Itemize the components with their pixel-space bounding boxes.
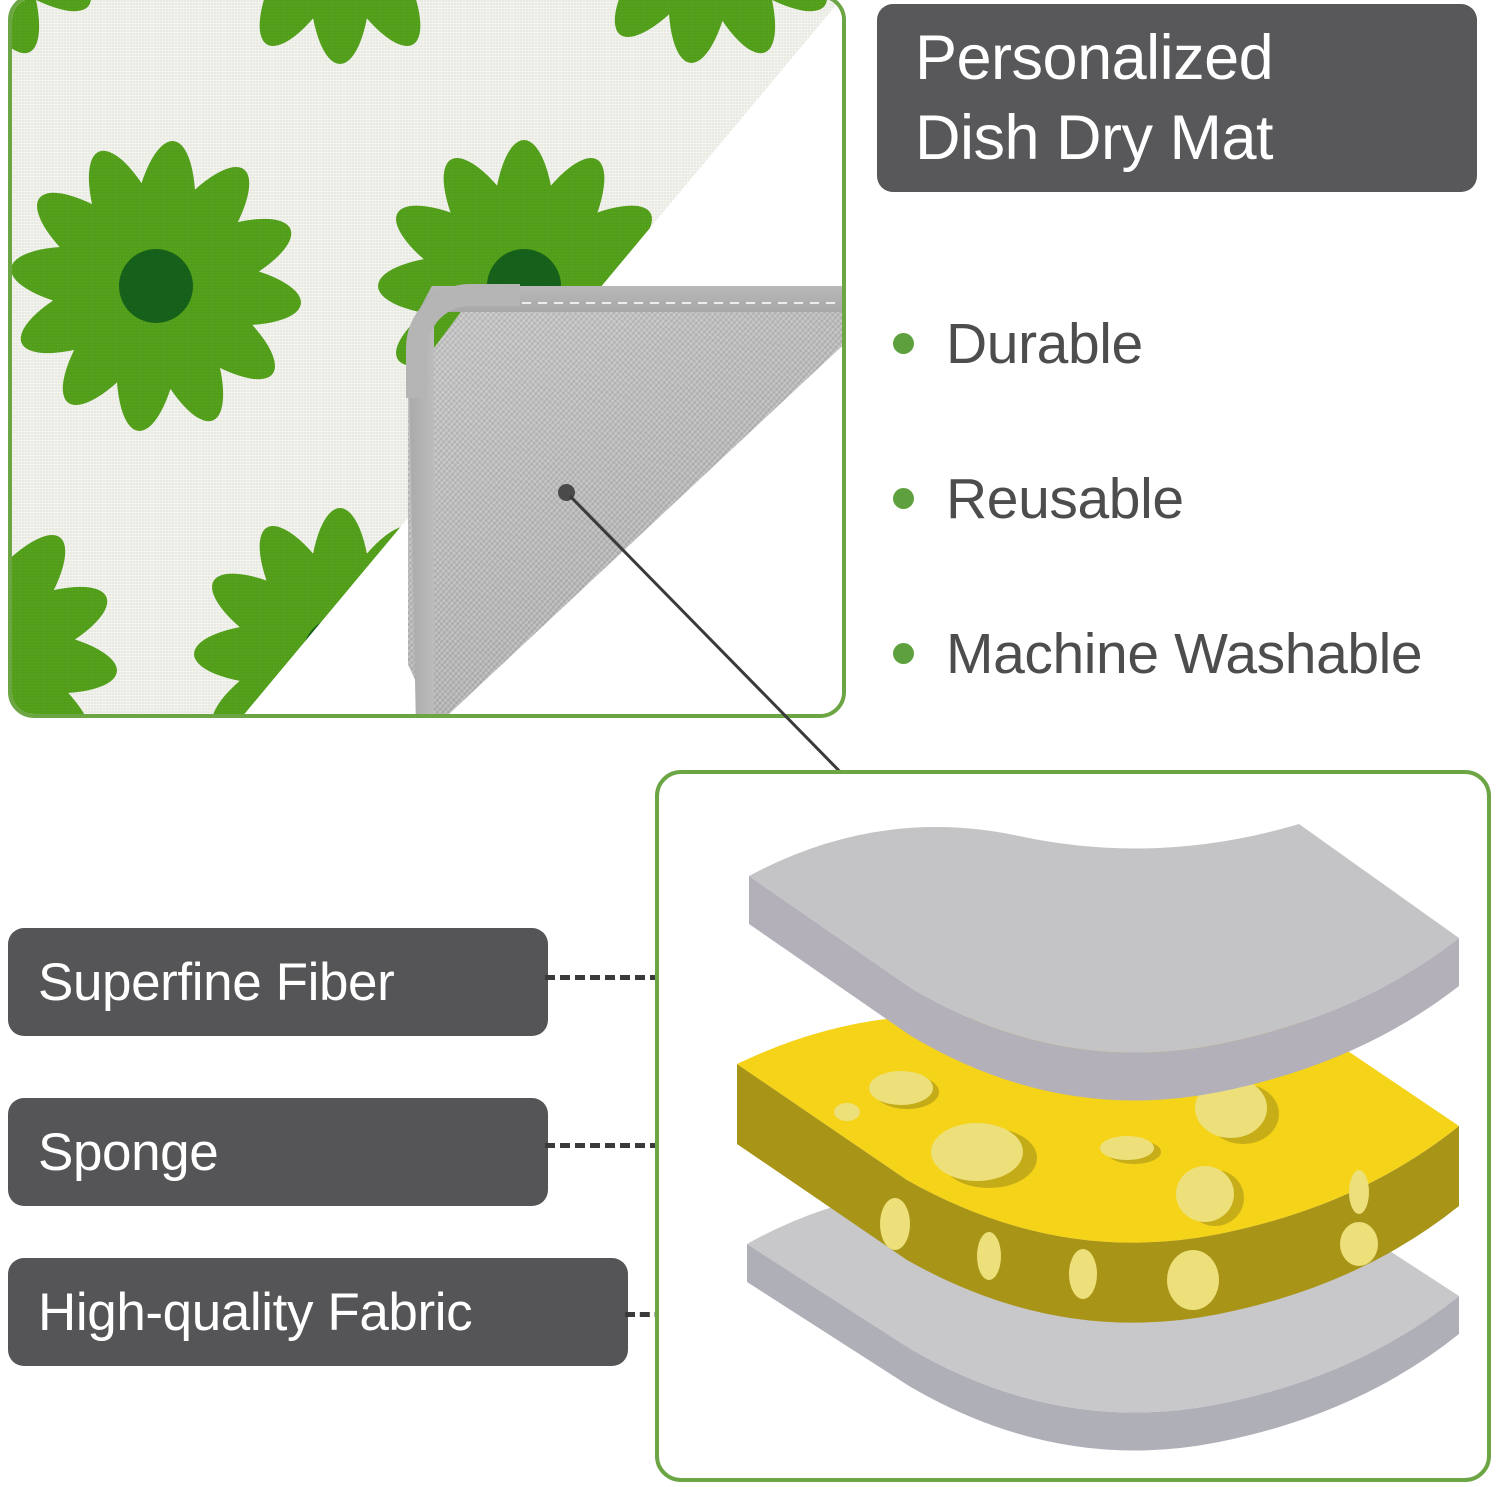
layer-label-superfine-fiber: Superfine Fiber (8, 928, 548, 1036)
daisy-core (8, 617, 9, 691)
exploded-layers-illustration (659, 774, 1487, 1478)
bullet-dot-icon (893, 333, 914, 354)
feature-list: Durable Reusable Machine Washable (893, 266, 1493, 731)
feature-item-machine-washable: Machine Washable (893, 576, 1493, 731)
bullet-dot-icon (893, 643, 914, 664)
product-title-card: Personalized Dish Dry Mat (877, 4, 1477, 192)
layer-structure-panel (655, 770, 1491, 1482)
folded-corner-grey-backing (408, 286, 846, 718)
feature-item-durable: Durable (893, 266, 1493, 421)
feature-item-reusable: Reusable (893, 421, 1493, 576)
layer-label-text: Sponge (38, 1122, 218, 1183)
title-line-2: Dish Dry Mat (915, 98, 1477, 178)
layer-label-high-quality-fabric: High-quality Fabric (8, 1258, 628, 1366)
layer-label-text: Superfine Fiber (38, 952, 394, 1013)
layer-label-text: High-quality Fabric (38, 1282, 472, 1343)
product-photo-panel (8, 0, 846, 718)
bullet-dot-icon (893, 488, 914, 509)
feature-label: Reusable (946, 469, 1184, 529)
feature-label: Durable (946, 314, 1143, 374)
hem-rounded-corner (406, 284, 520, 398)
title-line-1: Personalized (915, 18, 1477, 98)
layer-label-sponge: Sponge (8, 1098, 548, 1206)
feature-label: Machine Washable (946, 624, 1422, 684)
daisy-petal (843, 282, 846, 434)
backing-callout-dot (558, 484, 575, 501)
